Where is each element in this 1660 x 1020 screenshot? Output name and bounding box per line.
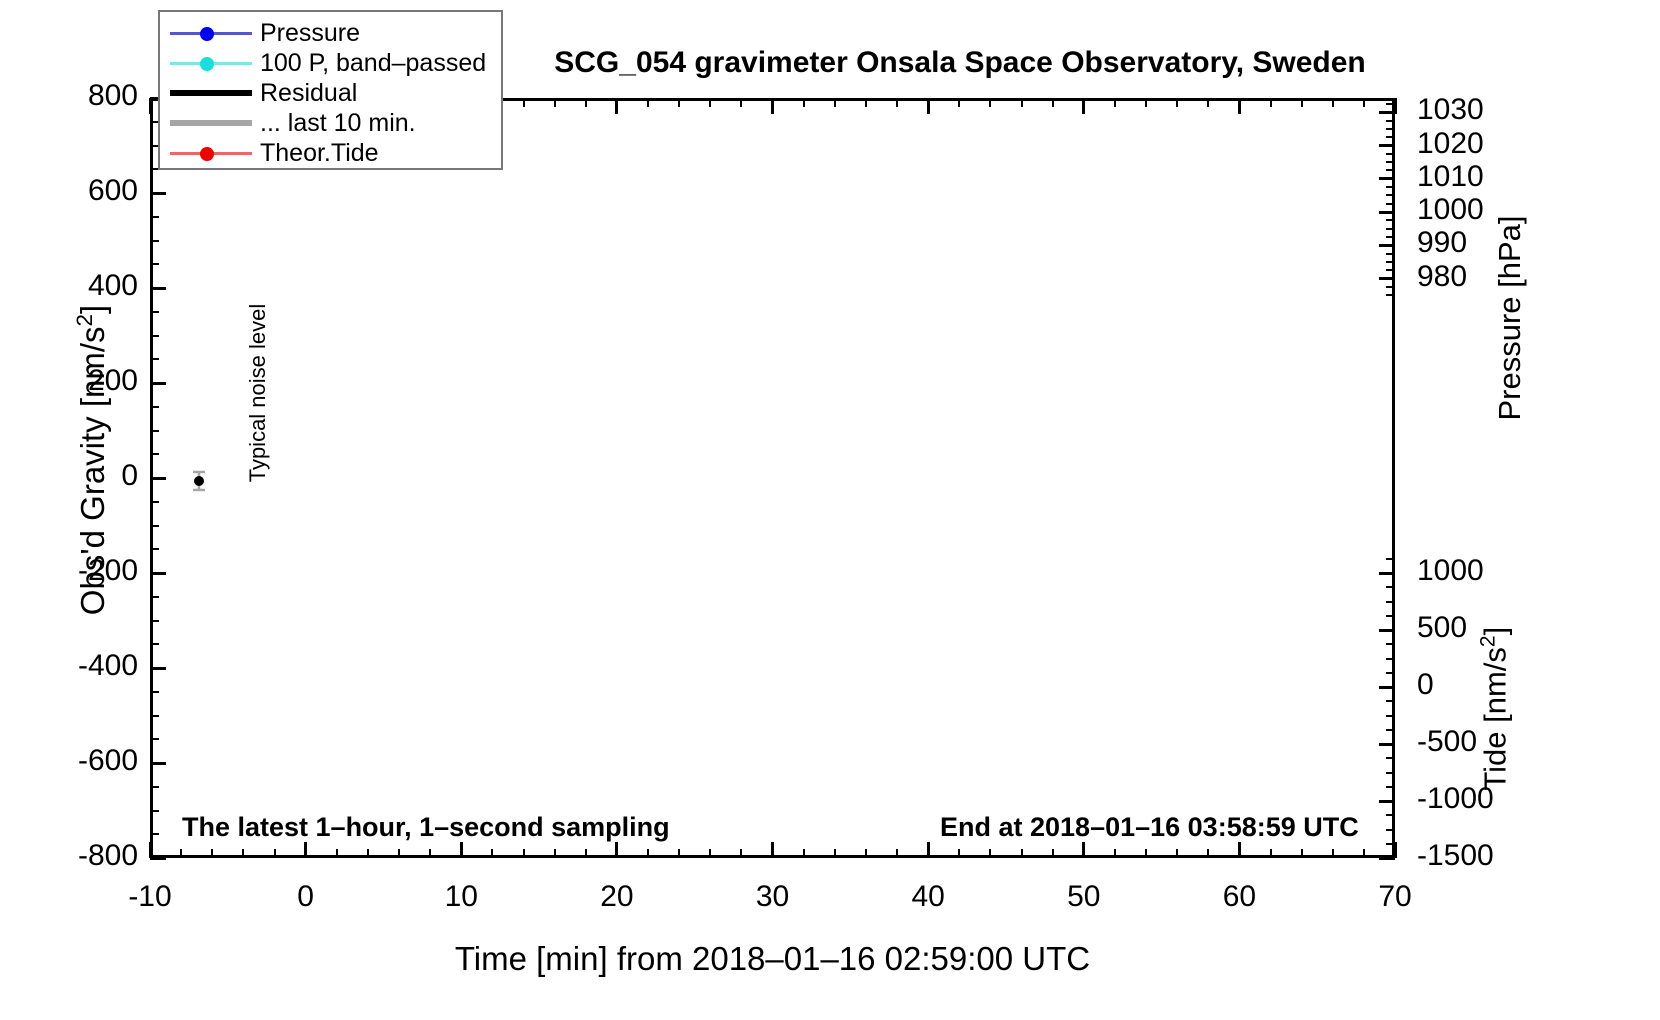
tick-mark <box>150 287 166 290</box>
tick-mark <box>150 596 159 598</box>
x-tick-label: 30 <box>713 880 833 914</box>
tick-mark <box>647 849 649 858</box>
x-tick-label: 40 <box>868 880 988 914</box>
tick-mark <box>1386 169 1395 171</box>
tick-mark <box>1207 849 1209 858</box>
tick-mark <box>865 98 867 107</box>
tick-mark <box>1386 586 1395 588</box>
tick-mark <box>150 477 166 480</box>
tick-mark <box>1386 219 1395 221</box>
tick-mark <box>1332 98 1334 107</box>
tick-mark <box>1145 98 1147 107</box>
tick-mark <box>585 849 587 858</box>
plot-frame <box>150 98 1395 858</box>
tick-mark <box>647 98 649 107</box>
sampling-note: The latest 1–hour, 1–second sampling <box>182 812 670 843</box>
tick-mark <box>150 786 159 788</box>
tick-mark <box>1386 843 1395 845</box>
x-tick-label: 50 <box>1024 880 1144 914</box>
tick-mark <box>150 857 166 860</box>
tick-mark <box>1379 743 1395 746</box>
tick-mark <box>1379 629 1395 632</box>
x-tick-label: 60 <box>1179 880 1299 914</box>
tick-mark <box>150 833 159 835</box>
tick-mark <box>1145 849 1147 858</box>
tick-mark <box>1386 253 1395 255</box>
tick-mark <box>1363 98 1365 107</box>
tick-mark <box>1082 98 1085 114</box>
tick-mark <box>150 715 159 717</box>
x-tick-label: 0 <box>246 880 366 914</box>
tick-mark <box>1386 757 1395 759</box>
legend-swatch-bandpassed <box>160 48 260 78</box>
y-tick-label-left: 600 <box>18 174 138 208</box>
tick-mark <box>1386 615 1395 617</box>
tick-mark <box>1386 186 1395 188</box>
y-axis-label-pressure: Pressure [hPa] <box>1492 138 1528 498</box>
tick-mark <box>150 620 159 622</box>
tick-mark <box>1176 849 1178 858</box>
tick-mark <box>523 849 525 858</box>
tick-mark <box>958 849 960 858</box>
tick-mark <box>1021 849 1023 858</box>
chart-title: SCG_054 gravimeter Onsala Space Observat… <box>520 46 1400 80</box>
x-tick-label: 10 <box>401 880 521 914</box>
tick-mark <box>150 810 159 812</box>
tick-mark <box>150 643 159 645</box>
tick-mark <box>1270 98 1272 107</box>
tick-mark <box>1386 658 1395 660</box>
tick-mark <box>771 842 774 858</box>
y-axis-label-left: Obs'd Gravity [nm/s2] <box>72 250 112 670</box>
tick-mark <box>865 849 867 858</box>
tick-mark <box>1052 849 1054 858</box>
tick-mark <box>1386 294 1395 296</box>
legend-label-bandpassed: 100 P, band–passed <box>260 49 486 78</box>
tick-mark <box>927 98 930 114</box>
tick-mark <box>1386 772 1395 774</box>
tick-mark <box>585 98 587 107</box>
tick-mark <box>1052 98 1054 107</box>
legend-label-tide: Theor.Tide <box>260 139 379 168</box>
tick-mark <box>150 548 159 550</box>
tick-mark <box>989 98 991 107</box>
y-tick-label-left: -800 <box>18 839 138 873</box>
tick-mark <box>150 216 159 218</box>
legend-label-last10: ... last 10 min. <box>260 109 416 138</box>
tick-mark <box>304 842 307 858</box>
tick-mark <box>180 849 182 858</box>
tick-mark <box>709 98 711 107</box>
tick-mark <box>1176 98 1178 107</box>
legend-item-tide[interactable]: Theor.Tide <box>160 138 501 168</box>
tick-mark <box>1386 700 1395 702</box>
tick-mark <box>1386 672 1395 674</box>
tick-mark <box>150 762 166 765</box>
tick-mark <box>1386 715 1395 717</box>
tick-mark <box>989 849 991 858</box>
tick-mark <box>1386 153 1395 155</box>
tick-mark <box>1114 98 1116 107</box>
tick-mark <box>1386 829 1395 831</box>
tick-mark <box>1386 203 1395 205</box>
legend-label-residual: Residual <box>260 79 357 108</box>
tick-mark <box>429 849 431 858</box>
tick-mark <box>149 98 152 114</box>
tick-mark <box>1270 849 1272 858</box>
x-axis-label: Time [min] from 2018–01–16 02:59:00 UTC <box>150 940 1395 978</box>
tick-mark <box>150 406 159 408</box>
tick-mark <box>150 525 159 527</box>
tick-mark <box>150 453 159 455</box>
tick-mark <box>336 849 338 858</box>
legend-item-residual[interactable]: Residual <box>160 78 501 108</box>
noise-level-marker <box>186 468 212 494</box>
tick-mark <box>1386 269 1395 271</box>
tick-mark <box>1386 261 1395 263</box>
tick-mark <box>615 98 618 114</box>
tick-mark <box>150 501 159 503</box>
legend-swatch-tide <box>160 138 260 168</box>
tick-mark <box>1386 814 1395 816</box>
legend-label-pressure: Pressure <box>260 19 360 48</box>
tick-mark <box>1386 729 1395 731</box>
legend-item-pressure[interactable]: Pressure <box>160 18 501 48</box>
tick-mark <box>1379 857 1395 860</box>
tick-mark <box>1386 601 1395 603</box>
tick-mark <box>803 98 805 107</box>
tick-mark <box>771 98 774 114</box>
noise-level-label: Typical noise level <box>245 283 271 503</box>
tick-mark <box>1386 161 1395 163</box>
legend-swatch-residual <box>160 78 260 108</box>
tick-mark <box>150 311 159 313</box>
tick-mark <box>740 98 742 107</box>
tick-mark <box>150 430 159 432</box>
tick-mark <box>1386 236 1395 238</box>
y-tick-label-left: 800 <box>18 79 138 113</box>
tick-mark <box>1386 128 1395 130</box>
end-time-note: End at 2018–01–16 03:58:59 UTC <box>940 812 1359 843</box>
tick-mark <box>709 849 711 858</box>
tick-mark <box>834 849 836 858</box>
tick-mark <box>740 849 742 858</box>
legend-item-last10[interactable]: ... last 10 min. <box>160 108 501 138</box>
tick-mark <box>398 849 400 858</box>
legend-item-bandpassed[interactable]: 100 P, band–passed <box>160 48 501 78</box>
tick-mark <box>150 335 159 337</box>
tick-mark <box>150 382 166 385</box>
tick-mark <box>1207 98 1209 107</box>
x-tick-label: -10 <box>90 880 210 914</box>
y-tick-label-left: -600 <box>18 744 138 778</box>
tick-mark <box>678 98 680 107</box>
tick-mark <box>150 192 166 195</box>
tick-mark <box>1379 111 1395 114</box>
tick-mark <box>896 98 898 107</box>
legend-swatch-pressure <box>160 18 260 48</box>
tick-mark <box>523 98 525 107</box>
legend-swatch-last10 <box>160 108 260 138</box>
tick-mark <box>927 842 930 858</box>
tick-mark <box>1379 244 1395 247</box>
tick-mark <box>1386 228 1395 230</box>
tick-mark <box>1386 286 1395 288</box>
tick-mark <box>491 849 493 858</box>
tick-mark <box>150 240 159 242</box>
tick-mark <box>1386 194 1395 196</box>
tick-mark <box>242 849 244 858</box>
tick-mark <box>460 842 463 858</box>
tick-mark <box>803 849 805 858</box>
tick-mark <box>150 263 159 265</box>
tick-mark <box>1114 849 1116 858</box>
tick-mark <box>1021 98 1023 107</box>
chart-page: SCG_054 gravimeter Onsala Space Observat… <box>0 0 1660 1020</box>
tick-mark <box>150 667 166 670</box>
tick-mark <box>554 849 556 858</box>
tick-mark <box>1332 849 1334 858</box>
tick-mark <box>896 849 898 858</box>
tick-mark <box>1379 211 1395 214</box>
tick-mark <box>1379 572 1395 575</box>
tick-mark <box>1386 558 1395 560</box>
tick-mark <box>1363 849 1365 858</box>
y-tick-label-pressure: 1030 <box>1417 93 1547 127</box>
tick-mark <box>150 572 166 575</box>
tick-mark <box>150 358 159 360</box>
tick-mark <box>1238 842 1241 858</box>
tick-mark <box>1386 103 1395 105</box>
tick-mark <box>1386 120 1395 122</box>
tick-mark <box>1238 98 1241 114</box>
tick-mark <box>1301 849 1303 858</box>
tick-mark <box>1379 800 1395 803</box>
x-tick-label: 20 <box>557 880 677 914</box>
tick-mark <box>1386 786 1395 788</box>
tick-mark <box>1379 177 1395 180</box>
tick-mark <box>150 691 159 693</box>
tick-mark <box>554 98 556 107</box>
tick-mark <box>367 849 369 858</box>
tick-mark <box>1386 136 1395 138</box>
tick-mark <box>1301 98 1303 107</box>
tick-mark <box>1379 686 1395 689</box>
tick-mark <box>958 98 960 107</box>
tick-mark <box>834 98 836 107</box>
tick-mark <box>150 738 159 740</box>
tick-mark <box>1379 144 1395 147</box>
tick-mark <box>274 849 276 858</box>
tick-mark <box>1082 842 1085 858</box>
tick-mark <box>1379 277 1395 280</box>
tick-mark <box>678 849 680 858</box>
x-tick-label: 70 <box>1335 880 1455 914</box>
y-axis-label-tide: Tide [nm/s2] <box>1476 549 1513 869</box>
legend: Pressure 100 P, band–passed Residual ...… <box>158 10 503 170</box>
tick-mark <box>1386 643 1395 645</box>
tick-mark <box>211 849 213 858</box>
tick-mark <box>615 842 618 858</box>
